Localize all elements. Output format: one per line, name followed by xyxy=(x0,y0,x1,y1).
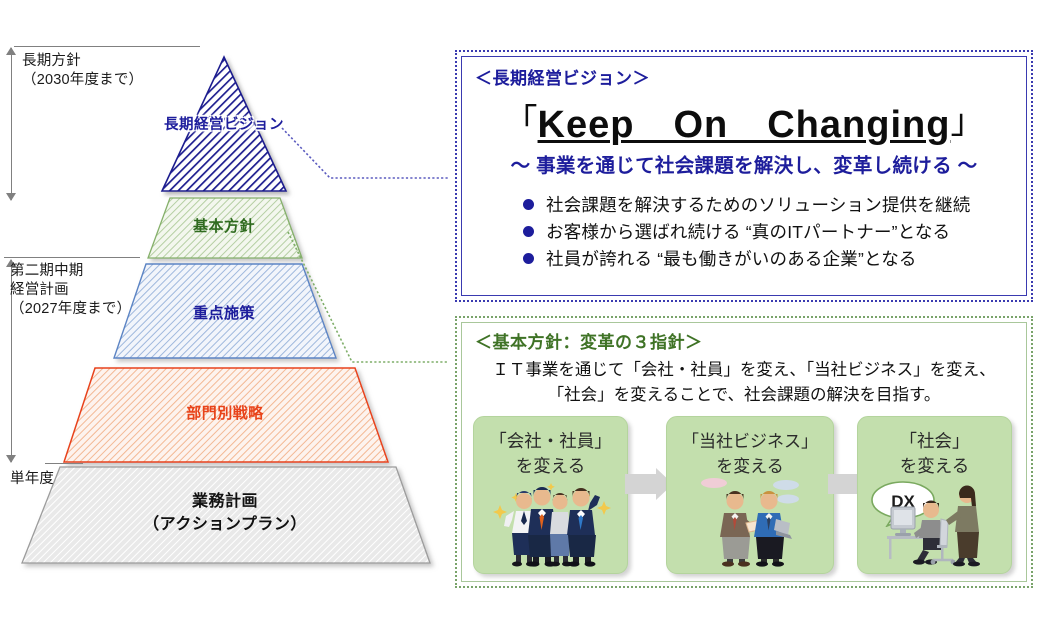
step-label-line-1: 「会社・社員」 xyxy=(474,429,627,454)
step-card-company-employees[interactable]: 「会社・社員」 を変える xyxy=(473,416,628,574)
bullet-dot-icon xyxy=(523,253,534,264)
policy-description: ＩＴ事業を通じて「会社・社員」を変え、「当社ビジネス」を変え、 「社会」を変える… xyxy=(477,358,1011,408)
vision-bullet-3: 社員が誇れる “最も働きがいのある企業”となる xyxy=(546,246,917,271)
pyramid-tier-key-measures[interactable]: 重点施策 xyxy=(112,262,336,358)
pyramid-tier-basic-policy[interactable]: 基本方針 xyxy=(146,196,302,258)
basic-policy-panel: ＜基本方針：変革の３指針＞ ＩＴ事業を通じて「会社・社員」を変え、「当社ビジネス… xyxy=(455,316,1033,588)
step-label-line-1: 「当社ビジネス」 xyxy=(667,429,833,454)
step-card-society[interactable]: 「社会」 を変える DX xyxy=(857,416,1012,574)
vision-title: 「Keep On Changing」 xyxy=(455,93,1033,148)
list-item: 社員が誇れる “最も働きがいのある企業”となる xyxy=(523,245,970,272)
business-team-illustration xyxy=(474,471,627,569)
two-businessmen-illustration xyxy=(667,471,833,569)
slide-canvas: 長期方針 （2030年度まで） 第二期中期 経営計画 （2027年度まで） 単年… xyxy=(0,0,1040,630)
step-label-line-1: 「社会」 xyxy=(858,429,1011,454)
divider-top xyxy=(14,46,200,47)
policy-description-line-1: ＩＴ事業を通じて「会社・社員」を変え、「当社ビジネス」を変え、 xyxy=(477,358,1011,383)
side-label-long-term: 長期方針 （2030年度まで） xyxy=(22,52,143,90)
pyramid-tier-action-plan[interactable]: 業務計画 （アクションプラン） xyxy=(20,465,430,565)
office-dx-illustration xyxy=(858,471,1011,569)
bullet-dot-icon xyxy=(523,199,534,210)
long-term-vision-panel: ＜長期経営ビジョン＞ 「Keep On Changing」 ～ 事業を通じて社会… xyxy=(455,50,1033,302)
measure-long-term xyxy=(6,48,18,200)
list-item: 社会課題を解決するためのソリューション提供を継続 xyxy=(523,191,970,218)
list-item: お客様から選ばれ続ける “真のITパートナー”となる xyxy=(523,218,970,245)
policy-panel-header: ＜基本方針：変革の３指針＞ xyxy=(475,328,703,353)
policy-description-line-2: 「社会」を変えることで、社会課題の解決を目指す。 xyxy=(477,383,1011,408)
step-card-our-business[interactable]: 「当社ビジネス」 を変える xyxy=(666,416,834,574)
vision-title-text: Keep On Changing xyxy=(538,104,951,146)
pyramid-tier-division-strategy[interactable]: 部門別戦略 xyxy=(62,366,388,462)
vision-subtitle: ～ 事業を通じて社会課題を解決し、変革し続ける ～ xyxy=(455,149,1033,178)
strategy-pyramid: 長期方針 （2030年度まで） 第二期中期 経営計画 （2027年度まで） 単年… xyxy=(0,0,448,630)
vision-bullet-1: 社会課題を解決するためのソリューション提供を継続 xyxy=(546,192,970,217)
bullet-dot-icon xyxy=(523,226,534,237)
vision-bullet-2: お客様から選ばれ続ける “真のITパートナー”となる xyxy=(546,219,950,244)
vision-panel-header: ＜長期経営ビジョン＞ xyxy=(475,64,650,89)
bracket-close: 」 xyxy=(950,103,984,141)
transformation-steps: 「会社・社員」 を変える xyxy=(473,416,1015,576)
pyramid-tier-vision[interactable]: 長期経営ビジョン xyxy=(160,55,288,193)
divider-mid xyxy=(4,257,140,258)
bracket-open: 「 xyxy=(504,103,538,141)
vision-bullet-list: 社会課題を解決するためのソリューション提供を継続 お客様から選ばれ続ける “真の… xyxy=(523,191,970,272)
